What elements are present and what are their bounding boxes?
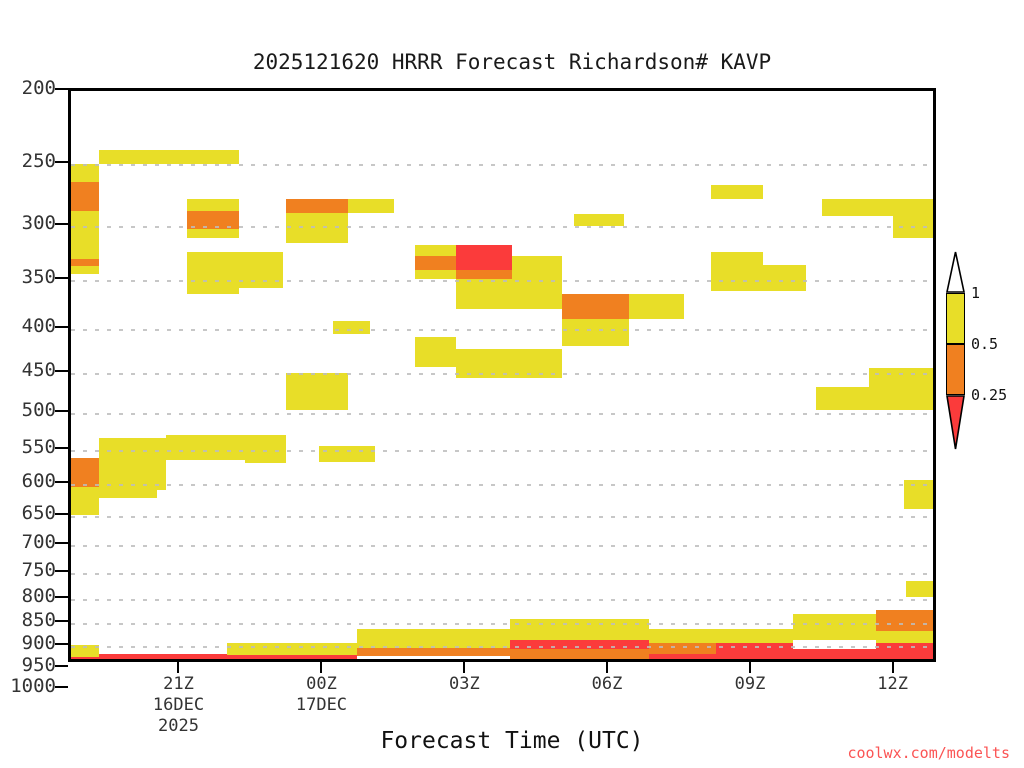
- heatmap-cell: [71, 182, 99, 211]
- heatmap-cell: [99, 654, 227, 659]
- y-axis-tick: [55, 665, 68, 667]
- chart-title: 2025121620 HRRR Forecast Richardson# KAV…: [0, 50, 1024, 74]
- y-axis-tick: [55, 161, 68, 163]
- heatmap-cell: [187, 229, 238, 238]
- y-axis-label: 800: [22, 585, 56, 607]
- heatmap-cell: [574, 214, 623, 226]
- heatmap-cell: [816, 387, 933, 410]
- heatmap-cell: [510, 619, 649, 640]
- y-axis-label: 450: [22, 359, 56, 381]
- x-axis-tick: [749, 662, 751, 673]
- heatmap-cell: [71, 211, 99, 259]
- heatmap-cell: [711, 185, 763, 199]
- grid-line: [71, 329, 933, 331]
- heatmap-cell: [649, 629, 793, 643]
- colorbar-segment-orange: [946, 344, 965, 395]
- x-axis-tick: [320, 662, 322, 673]
- watermark: coolwx.com/modelts: [847, 744, 1010, 762]
- y-axis-label: 500: [22, 399, 56, 421]
- heatmap-cells: [71, 91, 933, 659]
- grid-line: [71, 646, 933, 648]
- y-axis-tick: [55, 570, 68, 572]
- colorbar-top-caret: [946, 251, 965, 293]
- heatmap-cell: [456, 279, 512, 309]
- y-axis-tick: [55, 410, 68, 412]
- y-axis-label: 1000: [10, 675, 56, 697]
- heatmap-cell: [415, 270, 456, 279]
- heatmap-cell: [649, 643, 716, 653]
- chart-page: 2025121620 HRRR Forecast Richardson# KAV…: [0, 0, 1024, 768]
- heatmap-cell: [456, 245, 512, 270]
- y-axis-label: 850: [22, 609, 56, 631]
- heatmap-cell: [71, 259, 99, 266]
- heatmap-cell: [99, 490, 157, 498]
- heatmap-cell: [629, 294, 684, 320]
- y-axis-label: 650: [22, 502, 56, 524]
- heatmap-cell: [99, 438, 167, 490]
- y-axis-tick: [55, 686, 68, 688]
- y-axis-tick: [55, 370, 68, 372]
- grid-line: [71, 280, 933, 282]
- y-axis-label: 550: [22, 436, 56, 458]
- y-axis-tick: [55, 223, 68, 225]
- grid-line: [71, 226, 933, 228]
- heatmap-cell: [71, 266, 99, 273]
- heatmap-cell: [510, 649, 649, 659]
- heatmap-cell: [333, 321, 370, 334]
- y-axis-label: 400: [22, 315, 56, 337]
- colorbar-bottom-caret: [946, 395, 965, 450]
- heatmap-cell: [876, 631, 922, 644]
- grid-line: [71, 516, 933, 518]
- heatmap-cell: [227, 643, 356, 655]
- colorbar-segment-yellow: [946, 293, 965, 344]
- grid-line: [71, 450, 933, 452]
- x-axis-tick: [463, 662, 465, 673]
- heatmap-cell: [711, 252, 763, 290]
- y-axis-tick: [55, 277, 68, 279]
- y-axis-tick: [55, 542, 68, 544]
- x-axis-label: 09Z: [735, 674, 766, 695]
- heatmap-cell: [649, 654, 716, 659]
- heatmap-cell: [286, 213, 348, 242]
- heatmap-cell: [793, 614, 875, 639]
- heatmap-cell: [922, 610, 933, 630]
- heatmap-cell: [415, 256, 456, 270]
- heatmap-cell: [286, 373, 348, 395]
- y-axis-label: 200: [22, 77, 56, 99]
- heatmap-cell: [71, 487, 99, 515]
- x-axis-tick: [892, 662, 894, 673]
- x-axis-tick: [606, 662, 608, 673]
- heatmap-cell: [166, 435, 244, 460]
- y-axis-label: 700: [22, 531, 56, 553]
- heatmap-cell: [869, 368, 933, 388]
- heatmap-cell: [319, 446, 375, 463]
- y-axis-label: 750: [22, 559, 56, 581]
- heatmap-cell: [906, 581, 933, 596]
- heatmap-cell: [286, 395, 348, 410]
- y-axis-tick: [55, 88, 68, 90]
- grid-line: [71, 413, 933, 415]
- grid-line: [71, 545, 933, 547]
- heatmap-cell: [71, 164, 99, 182]
- grid-line: [71, 623, 933, 625]
- x-axis-label: 03Z: [449, 674, 480, 695]
- y-axis-tick: [55, 481, 68, 483]
- heatmap-cell: [71, 657, 99, 659]
- heatmap-cell: [793, 649, 875, 659]
- heatmap-cell: [239, 252, 283, 288]
- y-axis-tick: [55, 643, 68, 645]
- grid-line: [71, 164, 933, 166]
- heatmap-cell: [415, 245, 456, 256]
- heatmap-cell: [348, 199, 394, 213]
- heatmap-cell: [763, 265, 806, 291]
- colorbar-label: 0.5: [971, 335, 998, 353]
- grid-line: [71, 599, 933, 601]
- heatmap-cell: [456, 349, 563, 367]
- heatmap-cell: [922, 631, 933, 644]
- heatmap-cell: [357, 656, 511, 659]
- grid-line: [71, 573, 933, 575]
- y-axis-label: 300: [22, 212, 56, 234]
- x-axis-label: 06Z: [592, 674, 623, 695]
- heatmap-cell: [415, 337, 456, 366]
- heatmap-cell: [227, 655, 356, 659]
- heatmap-cell: [99, 150, 239, 164]
- y-axis-label: 250: [22, 150, 56, 172]
- x-axis-tick: [177, 662, 179, 673]
- y-axis-label: 350: [22, 266, 56, 288]
- y-axis-tick: [55, 447, 68, 449]
- heatmap-cell: [357, 629, 511, 648]
- colorbar-label: 1: [971, 284, 980, 302]
- heatmap-cell: [822, 199, 933, 216]
- y-axis-label: 950: [22, 654, 56, 676]
- grid-line: [71, 373, 933, 375]
- heatmap-cell: [245, 435, 287, 463]
- y-axis-label: 900: [22, 632, 56, 654]
- y-axis-tick: [55, 620, 68, 622]
- heatmap-cell: [357, 648, 511, 656]
- heatmap-cell: [187, 199, 238, 210]
- heatmap-cell: [71, 458, 99, 487]
- grid-line: [71, 484, 933, 486]
- x-axis-label: 21Z16DEC2025: [153, 674, 204, 737]
- colorbar-label: 0.25: [971, 386, 1007, 404]
- heatmap-cell: [456, 270, 512, 279]
- plot-area: [68, 88, 936, 662]
- heatmap-cell: [562, 319, 629, 345]
- heatmap-cell: [187, 252, 238, 294]
- y-axis-tick: [55, 596, 68, 598]
- y-axis-tick: [55, 326, 68, 328]
- x-axis-label: 12Z: [877, 674, 908, 695]
- heatmap-cell: [286, 199, 348, 213]
- y-axis-tick: [55, 513, 68, 515]
- heatmap-cell: [562, 294, 629, 320]
- heatmap-cell: [512, 256, 562, 309]
- x-axis-label: 00Z17DEC: [296, 674, 347, 716]
- colorbar-legend: 10.50.25: [946, 293, 965, 446]
- y-axis-label: 600: [22, 470, 56, 492]
- heatmap-cell: [876, 610, 922, 630]
